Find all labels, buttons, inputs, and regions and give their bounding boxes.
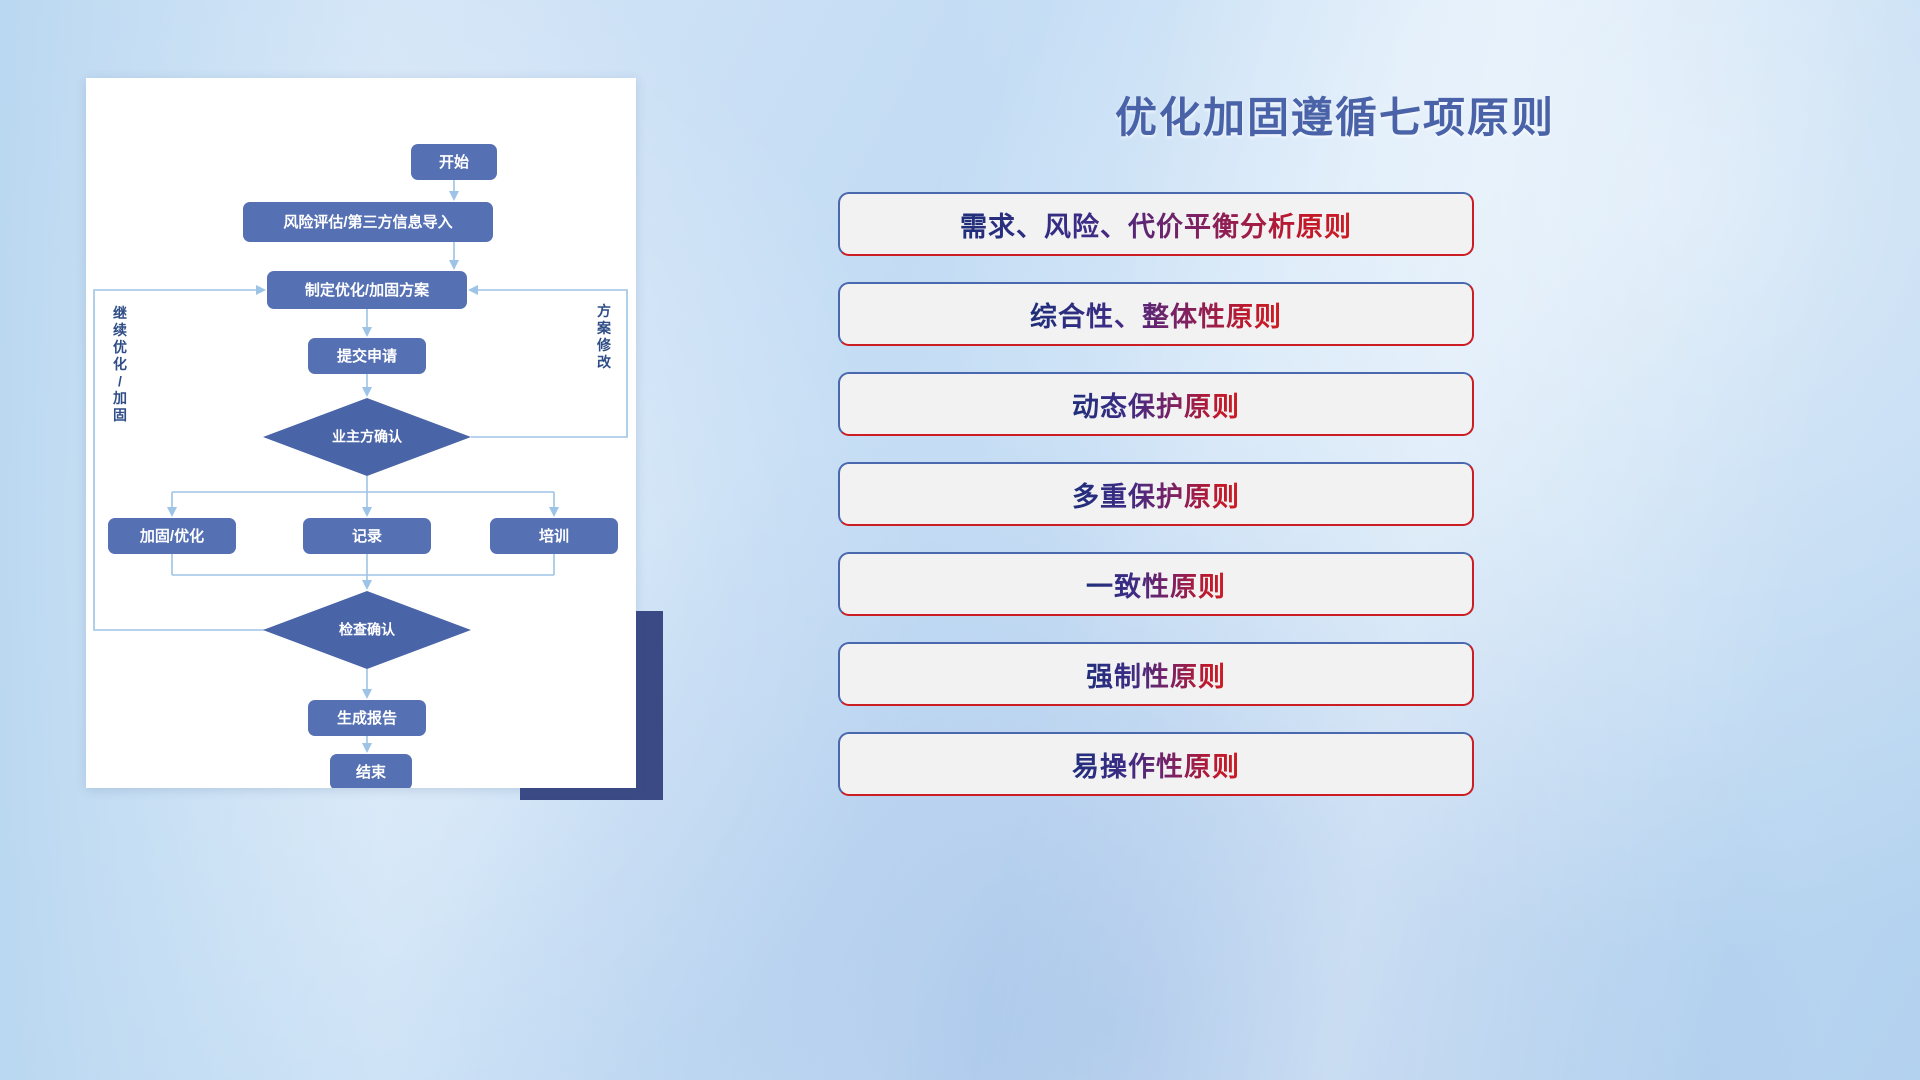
flow-node-label: 开始: [439, 153, 469, 171]
flowchart-panel: 开始 风险评估/第三方信息导入 制定优化/加固方案 提交申请 业主方确认 加固/…: [86, 78, 636, 788]
principle-card-5[interactable]: 一致性原则: [838, 552, 1474, 616]
principles-list: 需求、风险、代价平衡分析原则 综合性、整体性原则 动态保护原则 多重保护原则 一…: [838, 192, 1918, 822]
flow-node-label: 风险评估/第三方信息导入: [283, 213, 452, 231]
principle-label: 一致性原则: [1086, 565, 1226, 604]
flow-node-label: 提交申请: [337, 347, 397, 365]
flow-node-check-confirm[interactable]: 检查确认: [263, 591, 471, 669]
principle-card-4[interactable]: 多重保护原则: [838, 462, 1474, 526]
flow-label-plan-revision: 方案修改: [596, 303, 612, 370]
principle-label: 易操作性原则: [1072, 745, 1240, 784]
principle-card-7[interactable]: 易操作性原则: [838, 732, 1474, 796]
principle-label: 综合性、整体性原则: [1030, 295, 1282, 334]
principle-label: 动态保护原则: [1072, 385, 1240, 424]
page-title: 优化加固遵循七项原则: [830, 84, 1840, 145]
flowchart-diagram: 开始 风险评估/第三方信息导入 制定优化/加固方案 提交申请 业主方确认 加固/…: [86, 78, 636, 788]
flow-node-label: 结束: [356, 763, 387, 781]
flow-node-label: 加固/优化: [139, 527, 204, 545]
flow-node-label: 业主方确认: [332, 429, 403, 445]
flow-node-owner-confirm[interactable]: 业主方确认: [263, 398, 471, 476]
principle-card-6[interactable]: 强制性原则: [838, 642, 1474, 706]
principle-label: 强制性原则: [1086, 655, 1226, 694]
flow-node-risk-assessment[interactable]: 风险评估/第三方信息导入: [243, 202, 493, 242]
flow-node-end[interactable]: 结束: [330, 754, 412, 788]
flow-node-label: 记录: [352, 528, 382, 545]
flow-node-label: 制定优化/加固方案: [305, 281, 430, 299]
flow-node-submit[interactable]: 提交申请: [308, 338, 426, 374]
flow-node-label: 生成报告: [337, 709, 397, 727]
principle-label: 需求、风险、代价平衡分析原则: [960, 205, 1352, 244]
flow-node-label: 培训: [539, 527, 569, 545]
flow-label-continue-optimize: 继续优化/加固: [112, 305, 127, 423]
flow-node-report[interactable]: 生成报告: [308, 700, 426, 736]
flow-node-training[interactable]: 培训: [490, 518, 618, 554]
flow-node-plan[interactable]: 制定优化/加固方案: [267, 271, 467, 309]
flow-node-record[interactable]: 记录: [303, 518, 431, 554]
flow-node-reinforce[interactable]: 加固/优化: [108, 518, 236, 554]
principles-panel: 优化加固遵循七项原则 需求、风险、代价平衡分析原则 综合性、整体性原则 动态保护…: [830, 0, 1920, 1080]
principle-card-1[interactable]: 需求、风险、代价平衡分析原则: [838, 192, 1474, 256]
flow-node-label: 检查确认: [339, 622, 396, 638]
principle-card-2[interactable]: 综合性、整体性原则: [838, 282, 1474, 346]
principle-label: 多重保护原则: [1072, 475, 1240, 514]
principle-card-3[interactable]: 动态保护原则: [838, 372, 1474, 436]
flow-node-start[interactable]: 开始: [411, 144, 497, 180]
